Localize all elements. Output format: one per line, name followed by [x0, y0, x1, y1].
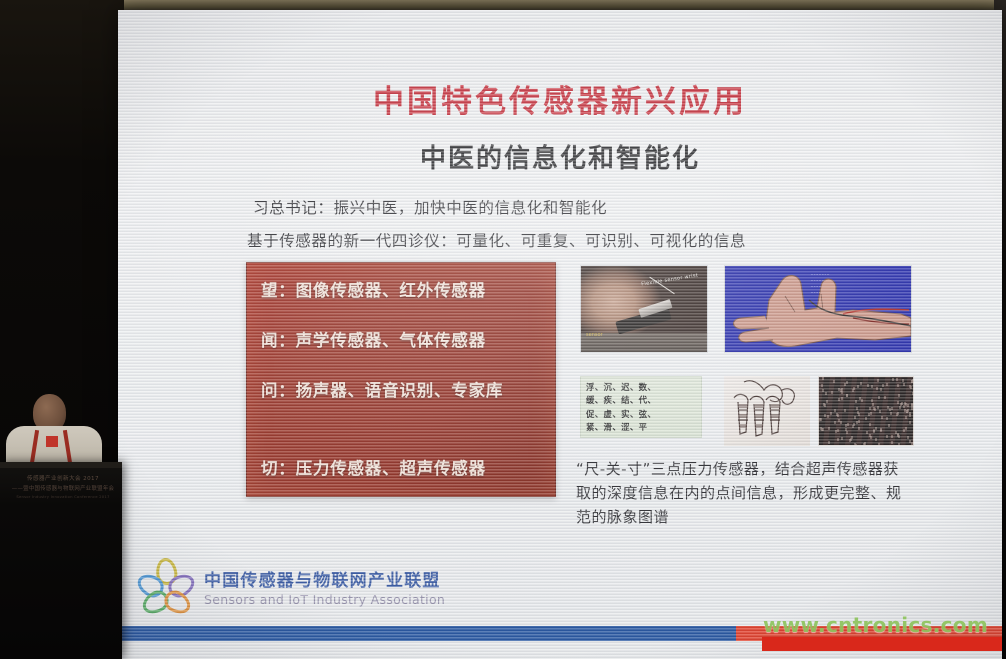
site-watermark: www.cntronics.com [763, 613, 988, 637]
texture-fleck [907, 436, 909, 439]
projection-screen: 中国特色传感器新兴应用 中医的信息化和智能化 习总书记：振兴中医，加快中医的信息… [118, 10, 1002, 659]
podium-line-2: ——暨中国传感器与物联网产业联盟年会 [6, 484, 120, 492]
bullet-point-2: 基于传感器的新一代四诊仪：可量化、可重复、可识别、可视化的信息 [247, 229, 746, 251]
texture-fleck [869, 423, 871, 426]
texture-fleck [906, 410, 908, 413]
texture-fleck [875, 438, 877, 441]
texture-fleck [858, 427, 860, 430]
texture-fleck [867, 384, 869, 387]
texture-fleck [897, 384, 899, 387]
texture-fleck [907, 404, 909, 407]
texture-fleck [857, 411, 859, 414]
texture-fleck [878, 396, 880, 399]
texture-fleck [828, 441, 830, 444]
texture-fleck [835, 430, 837, 433]
sketch-svg [724, 376, 810, 446]
texture-fleck [871, 385, 873, 388]
texture-fleck [912, 379, 914, 382]
texture-fleck [854, 416, 856, 419]
texture-fleck [838, 419, 840, 422]
texture-fleck [896, 378, 898, 381]
texture-fleck [851, 436, 853, 439]
texture-fleck [913, 407, 914, 410]
texture-fleck [824, 414, 826, 417]
texture-fleck [821, 384, 823, 387]
podium-signage: 传感器产业创新大会 2017 ——暨中国传感器与物联网产业联盟年会 Sensor… [6, 474, 120, 499]
texture-fleck [833, 380, 835, 383]
texture-fleck [861, 399, 863, 402]
org-name-en: Sensors and IoT Industry Association [204, 592, 445, 607]
podium: 传感器产业创新大会 2017 ——暨中国传感器与物联网产业联盟年会 Sensor… [0, 462, 122, 659]
slide-title: 中国特色传感器新兴应用 [118, 76, 1002, 121]
wrist-flexible-sensor-photo: Flexible sensor wrist sensor [580, 265, 708, 353]
texture-fleck [909, 421, 911, 424]
texture-fleck [876, 387, 878, 390]
photo-of-conference-screen: 中国特色传感器新兴应用 中医的信息化和智能化 习总书记：振兴中医，加快中医的信息… [0, 0, 1006, 659]
texture-fleck [846, 431, 848, 434]
texture-fleck [841, 397, 843, 400]
texture-fleck [860, 382, 862, 385]
texture-fleck [873, 430, 875, 433]
texture-fleck [846, 381, 848, 384]
texture-fleck [889, 408, 891, 411]
texture-fleck [892, 378, 894, 381]
pulse-row-4: 紧、滑、涩、平 [586, 421, 696, 434]
hand-anatomy-diagram: ·································· [724, 265, 912, 353]
texture-fleck [820, 418, 822, 421]
bullet-point-1: 习总书记：振兴中医，加快中医的信息化和智能化 [253, 196, 607, 218]
texture-fleck [888, 424, 890, 427]
slide-subtitle: 中医的信息化和智能化 [118, 138, 1002, 175]
texture-fleck [863, 443, 865, 446]
podium-top-edge [0, 462, 122, 468]
alliance-logo-icon [140, 558, 194, 614]
texture-fleck [870, 412, 872, 415]
texture-fleck [841, 437, 843, 440]
pulse-row-1: 浮、沉、迟、数、 [586, 381, 696, 394]
texture-fleck [834, 421, 836, 424]
texture-fleck [844, 409, 846, 412]
texture-fleck [828, 427, 830, 430]
diagnostic-row-ask: 问：扬声器、语音识别、专家库 [261, 380, 549, 402]
texture-fleck [878, 443, 880, 446]
texture-fleck [871, 399, 873, 402]
texture-fleck [884, 396, 886, 399]
diagnostic-row-look: 望：图像传感器、红外传感器 [261, 280, 549, 302]
texture-fleck [879, 410, 881, 413]
texture-fleck [869, 434, 871, 437]
texture-fleck [903, 429, 905, 432]
texture-fleck [891, 441, 893, 444]
texture-fleck [852, 425, 854, 428]
texture-fleck [896, 413, 898, 416]
pulse-types-box: 浮、沉、迟、数、 缓、疾、结、代、 促、虚、实、弦、 紧、滑、涩、平 [580, 376, 702, 438]
speaker-badge [46, 436, 58, 447]
texture-fleck [877, 379, 879, 382]
diagnostic-row-touch: 切：压力传感器、超声传感器 [261, 458, 549, 480]
four-diagnostics-red-table: 望：图像传感器、红外传感器 闻：声学传感器、气体传感器 问：扬声器、语音识别、专… [246, 262, 556, 497]
texture-fleck [866, 431, 868, 434]
texture-fleck [891, 435, 893, 438]
texture-fleck [865, 417, 867, 420]
texture-fleck [827, 415, 829, 418]
texture-fleck [877, 406, 879, 409]
texture-fleck [872, 403, 874, 406]
footer-bar-blue [118, 626, 736, 641]
stage-red-trim [762, 637, 1002, 651]
texture-fleck [886, 417, 888, 420]
texture-fleck [855, 400, 857, 403]
texture-fleck [822, 389, 824, 392]
texture-fleck [909, 440, 911, 443]
texture-fleck [903, 383, 905, 386]
texture-fleck [886, 435, 888, 438]
texture-fleck [837, 438, 839, 441]
texture-fleck [841, 391, 843, 394]
texture-fleck [845, 445, 847, 446]
texture-fleck [899, 406, 901, 409]
pulse-sketch-illustration [724, 376, 810, 446]
texture-fleck [911, 407, 913, 410]
texture-fleck [896, 445, 898, 446]
texture-fleck [886, 383, 888, 386]
texture-fleck [858, 420, 860, 423]
texture-fleck [905, 427, 907, 430]
texture-fleck [846, 394, 848, 397]
texture-fleck [873, 407, 875, 410]
presentation-slide: 中国特色传感器新兴应用 中医的信息化和智能化 习总书记：振兴中医，加快中医的信息… [118, 10, 1002, 659]
texture-fleck [841, 388, 843, 391]
texture-fleck [897, 401, 899, 404]
texture-fleck [825, 392, 827, 395]
pulse-row-3: 促、虚、实、弦、 [586, 408, 696, 421]
texture-fleck [912, 392, 914, 395]
texture-fleck [875, 427, 877, 430]
texture-fleck [856, 407, 858, 410]
texture-fleck [909, 412, 911, 415]
photo-caption-label: Flexible sensor wrist [641, 273, 699, 288]
texture-fleck [881, 416, 883, 419]
texture-fleck [830, 412, 832, 415]
texture-fleck [837, 429, 839, 432]
footer-logo: 中国传感器与物联网产业联盟 Sensors and IoT Industry A… [140, 558, 445, 614]
images-caption: “尺-关-寸”三点压力传感器，结合超声传感器获取的深度信息在内的点间信息，形成更… [576, 457, 906, 529]
texture-fleck [854, 443, 856, 446]
texture-fleck [823, 403, 825, 406]
podium-line-1: 传感器产业创新大会 2017 [6, 474, 120, 482]
texture-fleck [898, 394, 900, 397]
texture-fleck [836, 413, 838, 416]
org-name-cn: 中国传感器与物联网产业联盟 [204, 566, 445, 591]
texture-fleck [821, 428, 823, 431]
texture-fleck [824, 404, 826, 407]
texture-fleck [882, 384, 884, 387]
texture-fleck [852, 389, 854, 392]
photo-caption-sublabel: sensor [586, 332, 603, 338]
diagnostic-row-listen: 闻：声学传感器、气体传感器 [261, 330, 549, 352]
texture-fleck [911, 404, 913, 407]
fiber-texture-photo [818, 376, 914, 446]
texture-fleck [911, 442, 913, 445]
texture-fleck [905, 416, 907, 419]
pulse-row-2: 缓、疾、结、代、 [586, 394, 696, 407]
texture-fleck [880, 429, 882, 432]
diagram-annotation-text: ·································· [811, 273, 904, 297]
footer-logo-text: 中国传感器与物联网产业联盟 Sensors and IoT Industry A… [204, 566, 445, 607]
texture-fleck [822, 377, 824, 380]
texture-fleck [849, 439, 851, 442]
texture-fleck [880, 388, 882, 391]
texture-fleck [903, 405, 905, 408]
texture-fleck [831, 391, 833, 394]
podium-line-3: Sensor Industry Innovation Conference 20… [6, 494, 120, 499]
texture-fleck [898, 443, 900, 446]
texture-fleck [869, 407, 871, 410]
texture-fleck [890, 412, 892, 415]
texture-fleck [847, 423, 849, 426]
texture-fleck [910, 386, 912, 389]
texture-fleck [834, 409, 836, 412]
texture-fleck [902, 379, 904, 382]
texture-fleck [857, 385, 859, 388]
texture-fleck [898, 435, 900, 438]
texture-fleck [870, 436, 872, 439]
